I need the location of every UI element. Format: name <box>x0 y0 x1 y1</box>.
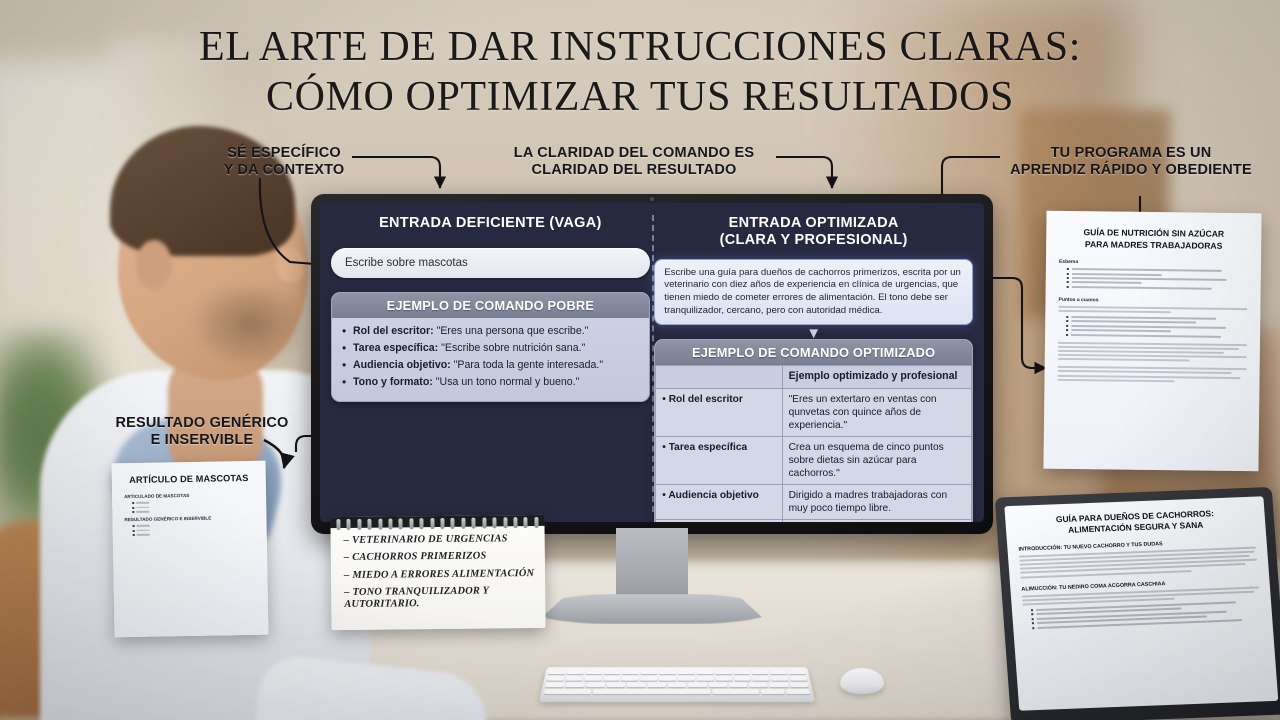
key <box>678 676 695 681</box>
key <box>788 669 806 674</box>
bullet-dot-icon <box>132 506 134 508</box>
bullet-dot-icon <box>1032 618 1034 620</box>
laptop-screen: GUÍA PARA DUEÑOS DE CACHORROS: ALIMENTAC… <box>1004 496 1278 710</box>
dash: – <box>344 535 350 546</box>
key <box>786 689 810 694</box>
bullet <box>1067 268 1248 272</box>
key <box>770 669 787 674</box>
table-row-value: "Eres un extertaro en ventas con qunveta… <box>782 388 971 436</box>
bullet-text: "Para toda la gente interesada." <box>454 359 603 371</box>
bullet-dot-icon <box>132 511 134 513</box>
bullet-text: "Escribe sobre nutrición sana." <box>441 342 585 354</box>
panel-left-heading: ENTRADA DEFICIENTE (VAGA) <box>331 215 650 232</box>
table-row-label: Audiencia objetivo <box>656 485 782 520</box>
monitor-screen: ENTRADA DEFICIENTE (VAGA) Escribe sobre … <box>320 203 984 522</box>
key <box>749 682 768 687</box>
bullet-label: Audiencia objetivo: <box>353 359 451 371</box>
doc-right-section2: Puntos a cuanos <box>1058 297 1247 305</box>
card-comando-optimizado: EJEMPLO DE COMANDO OPTIMIZADO Ejemplo op… <box>654 339 973 522</box>
doc-left-section1: ARTICULADO DE MASCOTAS <box>124 492 254 499</box>
monitor-stand-base <box>535 594 770 624</box>
bullet-dot-icon <box>1066 333 1068 335</box>
ring <box>482 517 486 528</box>
panel-right-heading-l1: ENTRADA OPTIMIZADA <box>654 215 973 232</box>
key <box>548 669 565 674</box>
page-title-line2: CÓMO OPTIMIZAR TUS RESULTADOS <box>0 76 1280 118</box>
key <box>729 682 748 687</box>
bullet-dot-icon <box>1032 627 1034 629</box>
keyboard-row <box>547 676 808 681</box>
ring <box>368 519 372 530</box>
doc-right-bullets-2 <box>1066 316 1247 338</box>
bullet-line <box>1071 320 1196 324</box>
bullet-dot-icon <box>1067 273 1069 275</box>
bullet-line <box>1071 277 1226 281</box>
ring <box>420 518 424 529</box>
bullet <box>1067 281 1248 285</box>
bullet <box>133 527 255 531</box>
ring <box>409 518 413 529</box>
paragraph-line <box>1058 358 1190 362</box>
ring <box>347 519 351 530</box>
key <box>566 682 585 687</box>
ring <box>451 518 455 529</box>
bullet-line <box>1071 268 1221 272</box>
key <box>790 676 808 681</box>
notepad: –VETERINARIO DE URGENCIAS –CACHORROS PRI… <box>330 515 545 630</box>
key <box>565 676 583 681</box>
key <box>697 676 714 681</box>
doc-left-section2: RESULTADO GENÉRICO E INSERVIBLE <box>124 515 254 522</box>
table-col1-header <box>656 366 782 389</box>
ring <box>357 519 361 530</box>
doc-right-heading-l2: PARA MADRES TRABAJADORAS <box>1085 239 1223 251</box>
callout-middle-l1: LA CLARIDAD DEL COMANDO ES <box>498 145 770 162</box>
flow-arrow-down-icon: ▼ <box>806 326 821 341</box>
list-item: Tarea específica: "Escribe sobre nutrici… <box>341 342 640 356</box>
notepad-line: –CACHORROS PRIMERIZOS <box>344 550 535 564</box>
key <box>769 682 788 687</box>
callout-bottom-left-l1: RESULTADO GENÉRICO <box>100 415 304 432</box>
bullet-dot-icon <box>1066 316 1068 318</box>
panel-right-heading: ENTRADA OPTIMIZADA (CLARA Y PROFESIONAL) <box>654 215 973 250</box>
person-beard <box>190 288 300 368</box>
paragraph-line <box>1058 346 1239 350</box>
monitor-stand-neck <box>616 528 688 602</box>
laptop-section2: ALIMUCCIÓN: TU NEDIRO COMA ACGORRA CASCH… <box>1021 577 1258 592</box>
page-title: EL ARTE DE DAR INSTRUCCIONES CLARAS: CÓM… <box>0 26 1280 118</box>
laptop: GUÍA PARA DUEÑOS DE CACHORROS: ALIMENTAC… <box>1003 492 1280 720</box>
paragraph-line <box>1058 310 1171 313</box>
bullet-dot-icon <box>1067 277 1069 279</box>
bullet-dot-icon <box>1067 286 1069 288</box>
laptop-lid: GUÍA PARA DUEÑOS DE CACHORROS: ALIMENTAC… <box>995 487 1280 720</box>
panel-right-heading-l2: (CLARA Y PROFESIONAL) <box>654 232 973 249</box>
keyboard-row <box>548 669 806 674</box>
callout-right: TU PROGRAMA ES UN APRENDIZ RÁPIDO Y OBED… <box>1000 145 1262 179</box>
vague-prompt-input[interactable]: Escribe sobre mascotas <box>331 248 650 278</box>
key-space <box>544 689 592 694</box>
bullet <box>132 509 254 513</box>
bullet <box>133 523 255 527</box>
key <box>752 676 769 681</box>
notepad-line: –MIEDO A ERRORES ALIMENTACIÓN <box>344 568 535 582</box>
key <box>659 676 676 681</box>
keyboard-row <box>544 689 810 694</box>
callout-bottom-left-l2: E INSERVIBLE <box>100 432 304 449</box>
key <box>771 676 789 681</box>
table-col2-header: Ejemplo optimizado y profesional <box>782 366 971 389</box>
bullet <box>1066 333 1247 337</box>
table-row-label: Tono y formato <box>656 520 782 522</box>
bullet <box>1067 273 1248 277</box>
table-row: Tarea específica Crea un esquema de cinc… <box>656 437 972 485</box>
key <box>733 669 750 674</box>
key <box>668 682 686 687</box>
bullet-line <box>1071 316 1216 320</box>
table-row: Audiencia objetivo Dirigido a madres tra… <box>656 485 972 520</box>
keyboard[interactable] <box>539 667 815 702</box>
doc-left-bullets-1 <box>132 500 254 513</box>
optimized-table: Ejemplo optimizado y profesional Rol del… <box>655 365 972 522</box>
doc-left-bullets-2 <box>133 523 255 536</box>
table-row-label: Rol del escritor <box>656 388 782 436</box>
notepad-line-text: TONO TRANQUILIZADOR Y AUTORITARIO. <box>344 585 489 610</box>
monitor-bezel: ENTRADA DEFICIENTE (VAGA) Escribe sobre … <box>311 194 993 534</box>
bullet-dot-icon <box>1066 325 1068 327</box>
bullet-line <box>1071 273 1161 276</box>
bullet-dot-icon <box>133 534 135 536</box>
bullet-line <box>1071 333 1221 337</box>
ring <box>378 519 382 530</box>
document-generic-result: ARTÍCULO DE MASCOTAS ARTICULADO DE MASCO… <box>111 461 268 638</box>
ring <box>399 518 403 529</box>
key <box>547 676 565 681</box>
ring <box>493 517 497 528</box>
panel-entrada-optimizada: ENTRADA OPTIMIZADA (CLARA Y PROFESIONAL)… <box>654 215 973 522</box>
notepad-line: –VETERINARIO DE URGENCIAS <box>344 533 535 547</box>
key <box>708 682 727 687</box>
bullet-dot-icon <box>1067 268 1069 270</box>
table-row-value: Dirigido a madres trabajadoras con muy p… <box>782 485 971 520</box>
paragraph-line <box>1058 374 1241 378</box>
key <box>734 676 751 681</box>
callout-left-l1: SÉ ESPECÍFICO <box>214 145 354 162</box>
list-item: Rol del escritor: "Eres una persona que … <box>341 325 640 339</box>
webcam-icon <box>650 197 654 201</box>
key <box>586 682 605 687</box>
key <box>789 682 808 687</box>
key <box>678 669 695 674</box>
table-row-value: Tono empático, directo, usando párrafos … <box>782 520 971 522</box>
list-item: Tono y formato: "Usa un tono normal y bu… <box>341 376 640 390</box>
bullet <box>1066 320 1247 324</box>
doc-right-heading: GUÍA DE NUTRICIÓN SIN AZÚCAR PARA MADRES… <box>1059 227 1248 252</box>
page-title-line1: EL ARTE DE DAR INSTRUCCIONES CLARAS: <box>199 24 1081 70</box>
bullet-text: "Usa un tono normal y bueno." <box>436 376 580 388</box>
bullet-line <box>137 525 150 527</box>
notepad-line-text: VETERINARIO DE URGENCIAS <box>352 533 508 546</box>
desktop-monitor: ENTRADA DEFICIENTE (VAGA) Escribe sobre … <box>311 194 993 534</box>
doc-right-bullets-1 <box>1067 268 1248 290</box>
callout-right-l1: TU PROGRAMA ES UN <box>1000 145 1262 162</box>
ring <box>430 518 434 529</box>
doc-right-section1: Esbema <box>1059 259 1248 267</box>
bullet-line <box>1071 325 1226 329</box>
bullet-line <box>136 502 149 504</box>
bullet-dot-icon <box>1067 281 1069 283</box>
bullet-dot-icon <box>1031 614 1033 616</box>
dash: – <box>344 569 350 580</box>
bullet-dot-icon <box>133 525 135 527</box>
bullet <box>1067 277 1248 281</box>
notepad-line: –TONO TRANQUILIZADOR Y AUTORITARIO. <box>344 585 535 612</box>
notepad-line-text: MIEDO A ERRORES ALIMENTACIÓN <box>352 568 534 581</box>
bullet <box>132 504 254 508</box>
ring <box>472 518 476 529</box>
dash: – <box>344 587 350 598</box>
key <box>567 669 584 674</box>
key <box>659 669 676 674</box>
laptop-bullets <box>1031 600 1261 628</box>
person-ear <box>136 240 172 290</box>
card-comando-pobre-title: EJEMPLO DE COMANDO POBRE <box>332 293 649 318</box>
bullet <box>132 500 254 504</box>
key <box>712 689 759 694</box>
key <box>641 676 658 681</box>
key <box>647 682 666 687</box>
list-item: Audiencia objetivo: "Para toda la gente … <box>341 359 640 373</box>
ring <box>336 519 340 530</box>
dash: – <box>344 552 350 563</box>
person-nose <box>276 248 306 282</box>
callout-left-l2: Y DA CONTEXTO <box>214 162 354 179</box>
key <box>585 669 602 674</box>
ring <box>524 517 528 528</box>
table-row: Rol del escritor "Eres un extertaro en v… <box>656 388 972 436</box>
key <box>603 676 620 681</box>
bullet-label: Rol del escritor: <box>353 325 434 337</box>
comando-pobre-list: Rol del escritor: "Eres una persona que … <box>341 325 640 389</box>
bullet-line <box>136 506 149 508</box>
key <box>604 669 621 674</box>
key <box>696 669 713 674</box>
keyboard-row <box>545 682 808 687</box>
key <box>545 682 564 687</box>
key <box>622 669 639 674</box>
key <box>584 676 601 681</box>
bullet-line <box>1071 329 1171 332</box>
table-row: Tono y formato Tono empático, directo, u… <box>656 520 972 522</box>
callout-right-l2: APRENDIZ RÁPIDO Y OBEDIENTE <box>1000 162 1262 179</box>
ring <box>440 518 444 529</box>
key <box>607 682 626 687</box>
ring <box>503 517 507 528</box>
key <box>715 676 732 681</box>
callout-bottom-left: RESULTADO GENÉRICO E INSERVIBLE <box>100 415 304 449</box>
table-header-row: Ejemplo optimizado y profesional <box>656 366 972 389</box>
key <box>752 669 769 674</box>
ring <box>461 518 465 529</box>
card-comando-pobre: EJEMPLO DE COMANDO POBRE Rol del escrito… <box>331 292 650 402</box>
paragraph-line <box>1058 370 1232 374</box>
notepad-rings <box>336 517 538 530</box>
notepad-line-text: CACHORROS PRIMERIZOS <box>352 551 486 563</box>
document-nutricion-guide: GUÍA DE NUTRICIÓN SIN AZÚCAR PARA MADRES… <box>1043 211 1261 472</box>
doc-right-heading-l1: GUÍA DE NUTRICIÓN SIN AZÚCAR <box>1083 227 1224 239</box>
table-row-value: Crea un esquema de cinco puntos sobre di… <box>782 437 971 485</box>
optimized-prompt-input[interactable]: Escribe una guía para dueños de cachorro… <box>654 259 973 326</box>
bullet-line <box>1071 281 1141 284</box>
ring <box>388 518 392 529</box>
doc-left-heading: ARTÍCULO DE MASCOTAS <box>124 473 254 485</box>
bullet <box>1067 286 1248 290</box>
bullet-dot-icon <box>1031 609 1033 611</box>
callout-left: SÉ ESPECÍFICO Y DA CONTEXTO <box>214 145 354 179</box>
bullet-line <box>137 529 150 531</box>
panel-entrada-deficiente: ENTRADA DEFICIENTE (VAGA) Escribe sobre … <box>331 215 650 402</box>
key <box>627 682 646 687</box>
bullet-dot-icon <box>1032 622 1034 624</box>
table-row-label: Tarea específica <box>656 437 782 485</box>
key <box>622 676 639 681</box>
bullet-line <box>1071 286 1211 290</box>
bullet-dot-icon <box>133 529 135 531</box>
bullet-label: Tono y formato: <box>353 376 433 388</box>
paragraph-line <box>1058 379 1175 382</box>
key-space <box>593 689 710 694</box>
ring <box>513 517 517 528</box>
mouse[interactable] <box>840 668 884 694</box>
callout-middle-l2: CLARIDAD DEL RESULTADO <box>498 162 770 179</box>
bullet <box>133 532 255 536</box>
bullet <box>1066 316 1247 320</box>
key <box>715 669 732 674</box>
bullet-line <box>136 511 149 513</box>
bullet <box>1066 325 1247 329</box>
bullet <box>1066 329 1247 333</box>
paragraph-line <box>1058 350 1224 354</box>
ring <box>534 517 538 528</box>
bullet-text: "Eres una persona que escribe." <box>437 325 589 337</box>
bullet-dot-icon <box>132 502 134 504</box>
card-comando-optimizado-title: EJEMPLO DE COMANDO OPTIMIZADO <box>655 340 972 365</box>
bullet-line <box>137 534 150 536</box>
bullet-dot-icon <box>1066 320 1068 322</box>
key <box>761 689 785 694</box>
key <box>688 682 707 687</box>
laptop-heading: GUÍA PARA DUEÑOS DE CACHORROS: ALIMENTAC… <box>1016 507 1255 539</box>
paragraph-line <box>1058 341 1247 345</box>
bullet-label: Tarea específica: <box>353 342 438 354</box>
bullet-dot-icon <box>1066 329 1068 331</box>
callout-middle: LA CLARIDAD DEL COMANDO ES CLARIDAD DEL … <box>498 145 770 179</box>
notepad-lines: –VETERINARIO DE URGENCIAS –CACHORROS PRI… <box>344 533 536 616</box>
key <box>641 669 658 674</box>
